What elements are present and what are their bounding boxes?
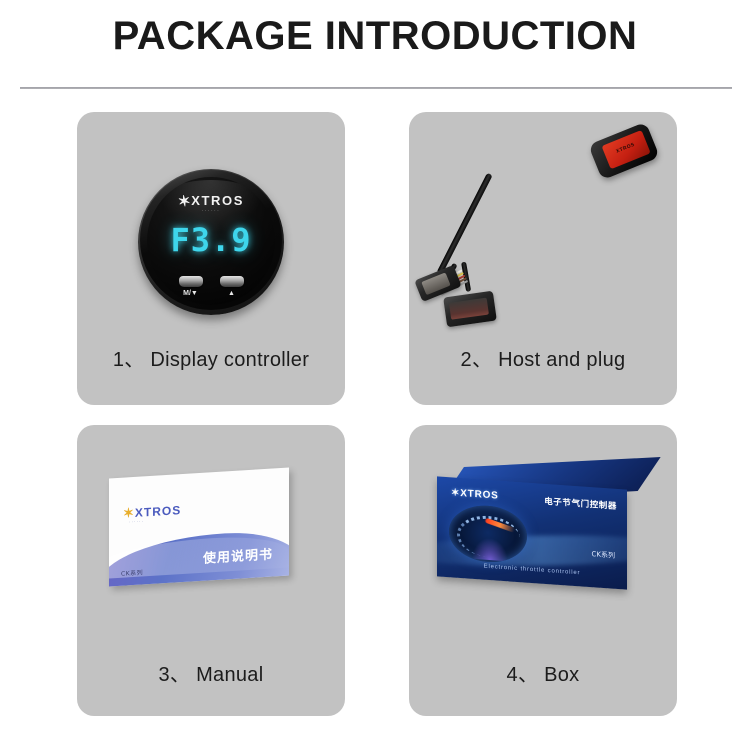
page-title: PACKAGE INTRODUCTION bbox=[0, 14, 750, 59]
star-icon: ✶ bbox=[451, 487, 460, 499]
dial-button-row bbox=[147, 276, 275, 287]
device-brand-subtext: ······ bbox=[147, 208, 275, 214]
card-caption-manual: 3、 Manual bbox=[77, 628, 345, 716]
manual-image: ✶XTROS ······ 使用说明书 CK系列 bbox=[77, 425, 345, 630]
package-item-card-manual[interactable]: ✶XTROS ······ 使用说明书 CK系列 3、 Manual bbox=[77, 425, 345, 716]
host-cable bbox=[436, 173, 492, 276]
gauge-glow bbox=[472, 536, 508, 561]
dial-face: ✶XTROS ······ F3.9 M/▼ ▲ bbox=[147, 177, 275, 305]
package-item-card-display-controller[interactable]: ✶XTROS ······ F3.9 M/▼ ▲ 1、 Display cont… bbox=[77, 112, 345, 405]
manual-series-code: CK系列 bbox=[121, 567, 143, 577]
device-brand-logo: ✶XTROS bbox=[147, 193, 275, 208]
package-item-card-host-and-plug[interactable]: 2、 Host and plug bbox=[409, 112, 677, 405]
host-module-label bbox=[602, 130, 651, 169]
card-caption-display-controller: 1、 Display controller bbox=[77, 313, 345, 401]
box-front-face: ✶XTROS 电子节气门控制器 CK系列 Electronic throttle… bbox=[437, 476, 627, 589]
card-caption-host-and-plug: 2、 Host and plug bbox=[409, 313, 677, 401]
manual-booklet: ✶XTROS ······ 使用说明书 CK系列 bbox=[109, 467, 289, 586]
host-module bbox=[588, 122, 660, 180]
up-button[interactable] bbox=[220, 276, 244, 287]
display-controller-image: ✶XTROS ······ F3.9 M/▼ ▲ bbox=[77, 112, 345, 317]
box-brand-name: XTROS bbox=[460, 488, 498, 502]
package-item-card-box[interactable]: ✶XTROS 电子节气门控制器 CK系列 Electronic throttle… bbox=[409, 425, 677, 716]
mode-down-button[interactable] bbox=[179, 276, 203, 287]
box-brand-logo: ✶XTROS bbox=[451, 487, 499, 501]
box-series-code: CK系列 bbox=[592, 549, 615, 561]
dial-button-labels: M/▼ ▲ bbox=[147, 290, 275, 297]
manual-brand-subtext: ······ bbox=[129, 518, 144, 524]
package-items-grid: ✶XTROS ······ F3.9 M/▼ ▲ 1、 Display cont… bbox=[77, 112, 677, 716]
led-display-value: F3.9 bbox=[147, 221, 275, 259]
device-brand-name: XTROS bbox=[191, 193, 244, 208]
mode-down-button-label: M/▼ bbox=[179, 290, 203, 297]
host-and-plug-image bbox=[409, 112, 677, 317]
box-image: ✶XTROS 电子节气门控制器 CK系列 Electronic throttle… bbox=[409, 425, 677, 630]
retail-box: ✶XTROS 电子节气门控制器 CK系列 Electronic throttle… bbox=[437, 467, 649, 587]
up-button-label: ▲ bbox=[220, 290, 244, 297]
box-title-cn: 电子节气门控制器 bbox=[544, 495, 617, 512]
dial-controller[interactable]: ✶XTROS ······ F3.9 M/▼ ▲ bbox=[138, 169, 284, 315]
manual-brand-name: XTROS bbox=[135, 503, 181, 520]
card-caption-box: 4、 Box bbox=[409, 628, 677, 716]
title-divider bbox=[20, 87, 732, 89]
